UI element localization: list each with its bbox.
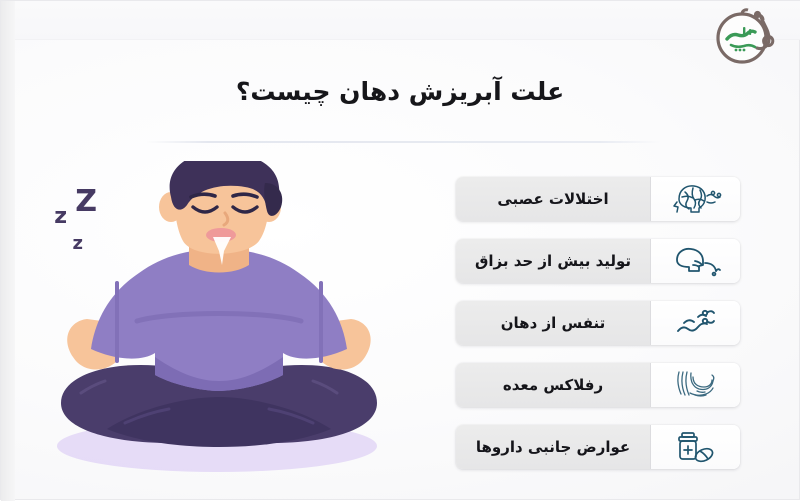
- site-logo[interactable]: [709, 5, 785, 67]
- icon-cell: [650, 177, 740, 221]
- icon-cell: [650, 301, 740, 345]
- head: [159, 161, 282, 265]
- cause-row-acid-reflux[interactable]: رفلاکس معده: [456, 363, 740, 407]
- left-edge-strip: [1, 1, 15, 501]
- icon-cell: [650, 239, 740, 283]
- stomach-reflux-icon: [671, 369, 721, 401]
- svg-text:z: z: [73, 233, 83, 254]
- sleep-zzz: Z z z: [54, 184, 97, 254]
- illustration-sleeping-man: Z z z: [21, 161, 421, 491]
- top-band: [1, 1, 800, 40]
- title-divider: [146, 141, 661, 143]
- cause-label: عوارض جانبی داروها: [456, 425, 650, 469]
- icon-cell: [650, 363, 740, 407]
- cause-row-medication-side-effects[interactable]: عوارض جانبی داروها: [456, 425, 740, 469]
- icon-cell: [650, 425, 740, 469]
- cause-row-excess-saliva[interactable]: تولید بیش از حد بزاق: [456, 239, 740, 283]
- svg-text:Z: Z: [75, 184, 97, 219]
- brain-head-icon: [669, 182, 723, 216]
- svg-text:z: z: [54, 204, 67, 229]
- cause-label: اختلالات عصبی: [456, 177, 650, 221]
- infographic-canvas: علت آبریزش دهان چیست؟: [0, 0, 800, 500]
- cause-label: رفلاکس معده: [456, 363, 650, 407]
- head-saliva-icon: [669, 244, 723, 278]
- causes-list: اختلالات عصبی تولید بیش از حد بزاق: [456, 177, 740, 469]
- cause-row-mouth-breathing[interactable]: تنفس از دهان: [456, 301, 740, 345]
- cause-row-neurological[interactable]: اختلالات عصبی: [456, 177, 740, 221]
- mouth-breathing-icon: [672, 307, 720, 339]
- page-title: علت آبریزش دهان چیست؟: [1, 77, 799, 106]
- cause-label: تولید بیش از حد بزاق: [456, 239, 650, 283]
- cause-label: تنفس از دهان: [456, 301, 650, 345]
- medicine-bottle-pills-icon: [671, 430, 721, 464]
